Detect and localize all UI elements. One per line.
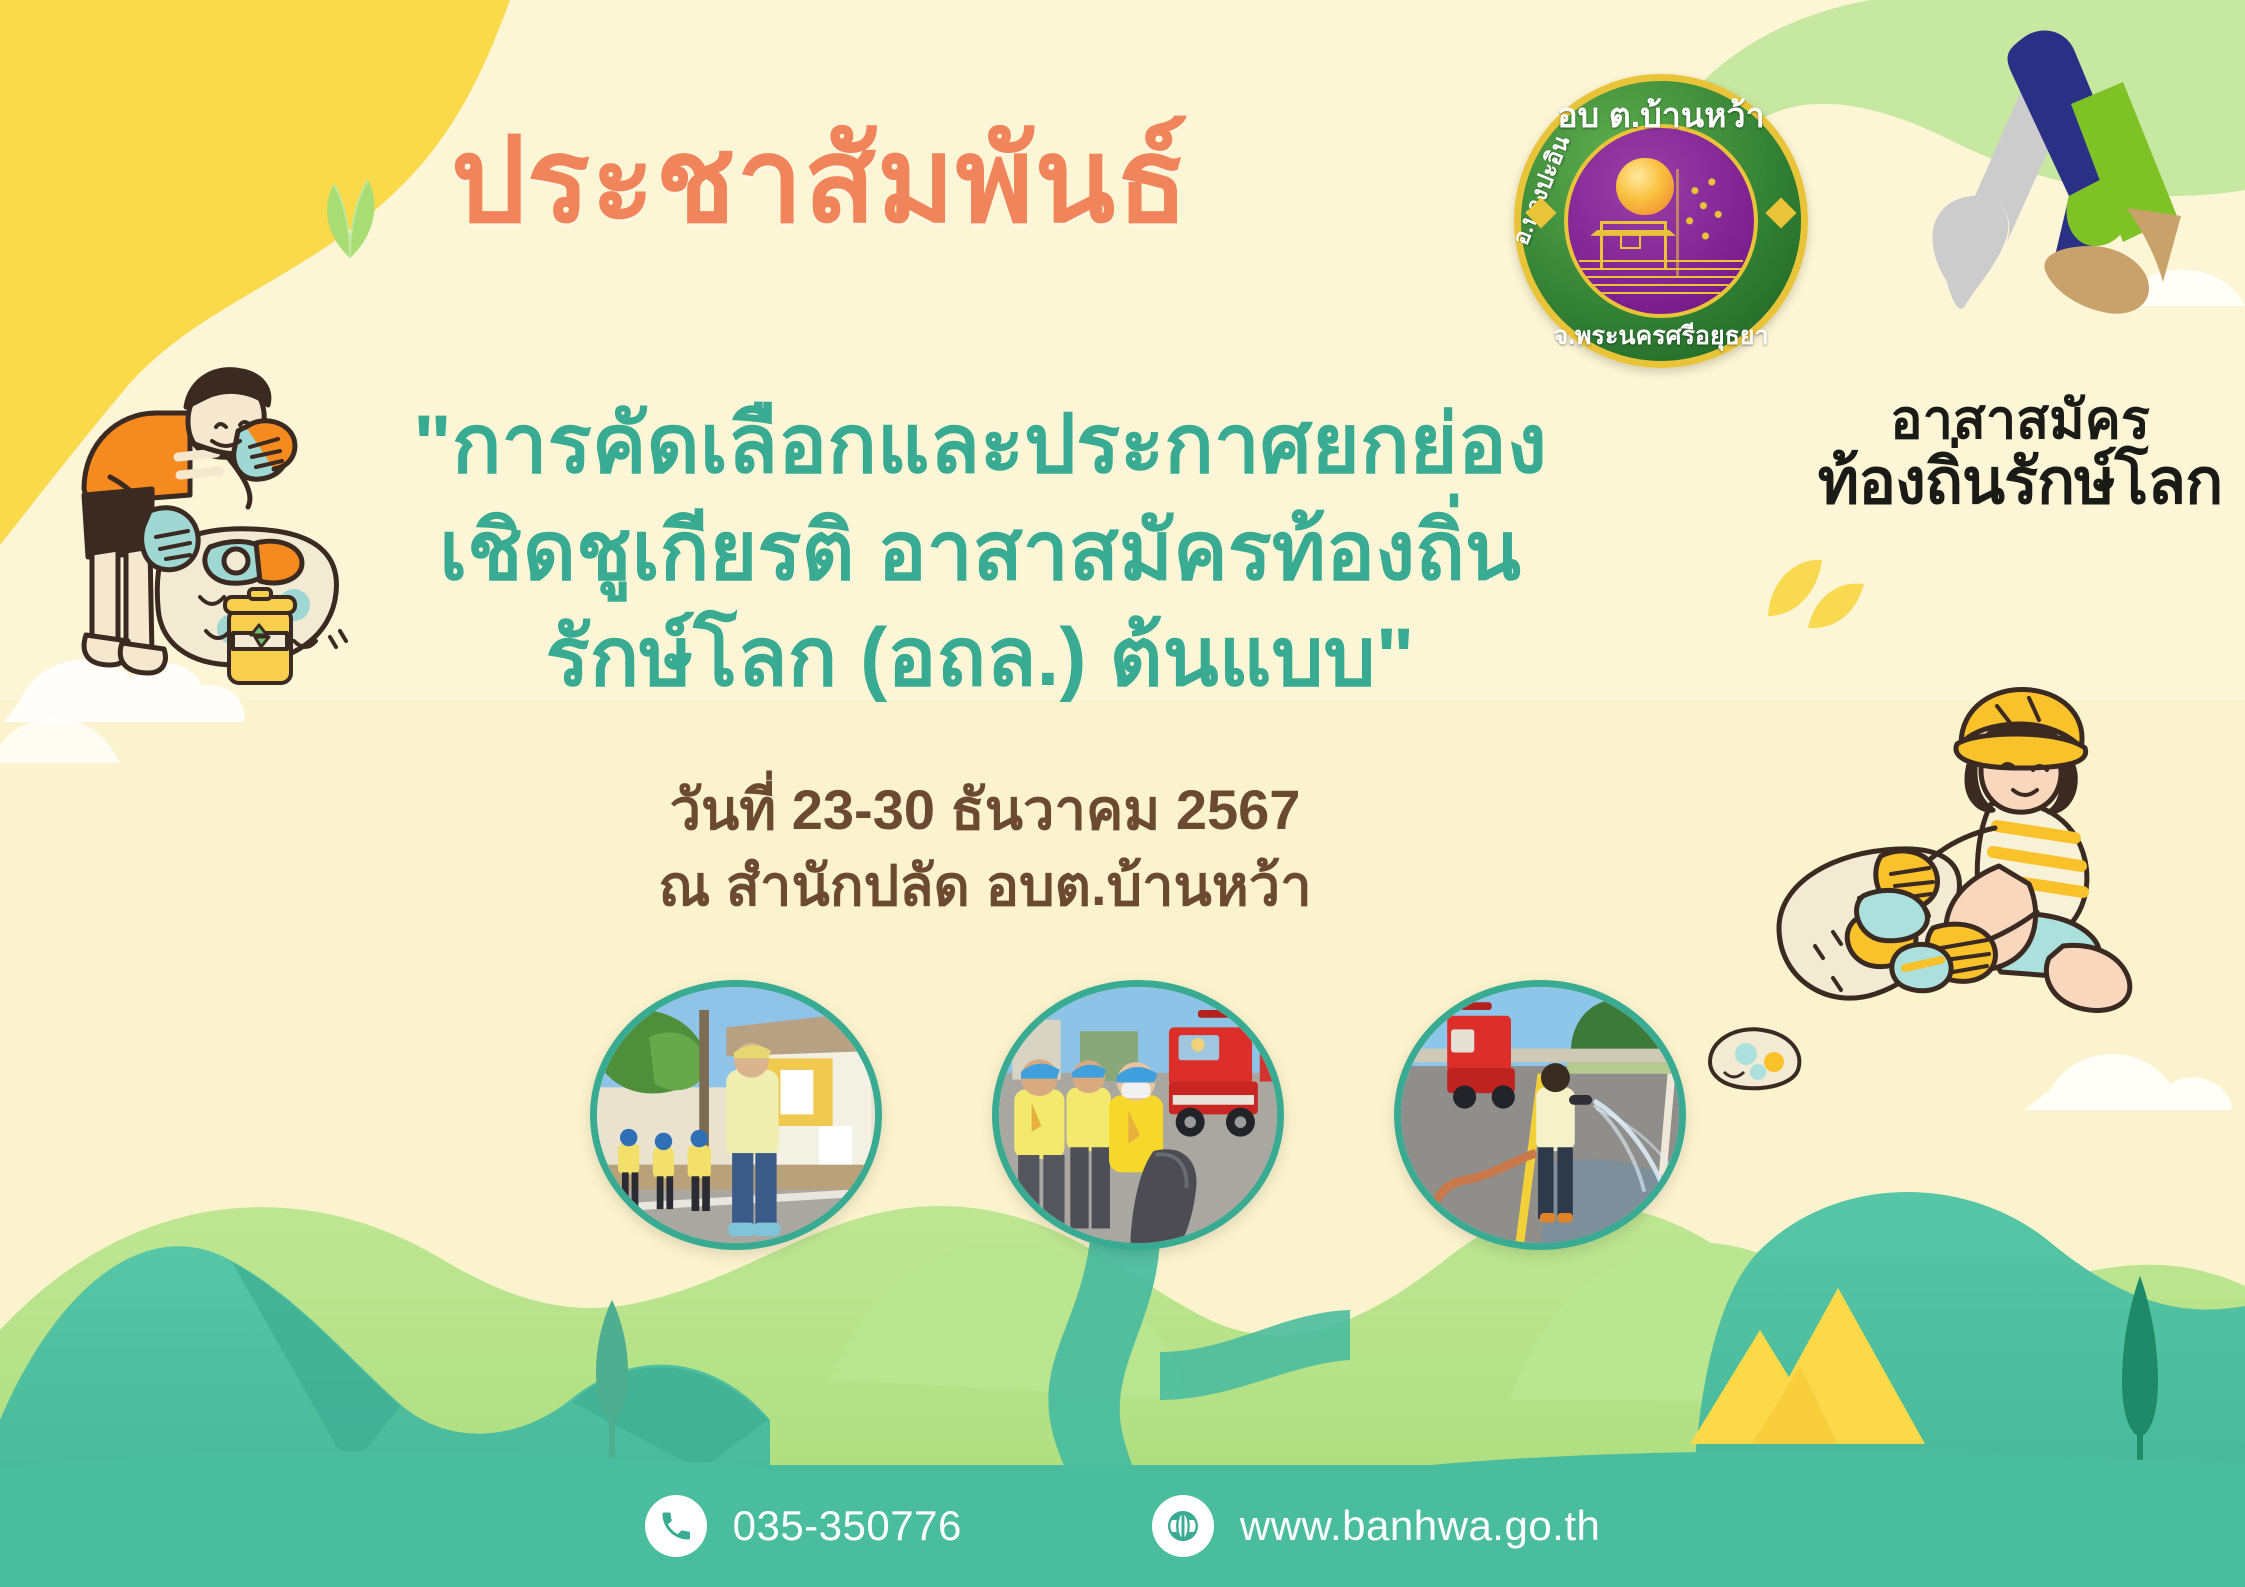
trash-pile-icon [1700, 1010, 1810, 1095]
emblem-diamond-right [1765, 197, 1796, 228]
leaf-pair-icon [1760, 540, 1870, 635]
phone-icon [645, 1495, 707, 1557]
man-picking-trash-illustration [40, 335, 370, 700]
leaf-sprout-icon [300, 150, 400, 260]
emblem-top-text: อบ ต.บ้านหว้า [1557, 88, 1765, 142]
woman-picking-trash-illustration [1745, 660, 2145, 1020]
municipal-emblem: อบ ต.บ้านหว้า อ.บางปะอิน จ.พระนครศรีอยุธ… [1514, 74, 1808, 368]
headline-line-2: เชิดชูเกียรติ อาสาสมัครท้องถิ่น [280, 499, 1680, 606]
globe-icon [1152, 1495, 1214, 1557]
event-date: วันที่ 23-30 ธันวาคม 2567 [380, 772, 1590, 848]
phone-contact[interactable]: 035-350776 [645, 1495, 962, 1557]
program-logo-line2: ท้องถิ่นรักษ์โลก [1790, 449, 2245, 516]
event-place: ณ สำนักปลัด อบต.บ้านหว้า [380, 848, 1590, 924]
photo-2-image [993, 981, 1283, 1250]
page-title: ประชาสัมพันธ์ [0, 120, 1640, 244]
phone-number: 035-350776 [733, 1502, 962, 1550]
photo-1 [590, 980, 882, 1250]
website-url: www.banhwa.go.th [1240, 1502, 1601, 1550]
headline: "การคัดเลือกและประกาศยกย่อง เชิดชูเกียรต… [280, 392, 1680, 712]
headline-line-3: รักษ์โลก (อถล.) ต้นแบบ" [280, 605, 1680, 712]
website-contact[interactable]: www.banhwa.go.th [1152, 1495, 1601, 1557]
photo-3-image [1395, 981, 1685, 1250]
photo-3 [1394, 980, 1686, 1250]
footer-contact-bar: 035-350776 www.banhwa.go.th [0, 1465, 2245, 1587]
photo-2 [992, 980, 1284, 1250]
emblem-left-text: อ.บางปะอิน [1503, 130, 1580, 251]
photo-1-image [591, 981, 881, 1250]
headline-line-1: "การคัดเลือกและประกาศยกย่อง [280, 392, 1680, 499]
poster-root: ประชาสัมพันธ์ อบ ต.บ้านหว้า อ.บางปะอิน จ… [0, 0, 2245, 1587]
program-logo-line1: อาสาสมัคร [1790, 392, 2245, 449]
recycle-bin-icon [215, 585, 305, 695]
header: ประชาสัมพันธ์ [0, 120, 1640, 244]
program-logo [1855, 20, 2215, 320]
photo-gallery [590, 980, 1700, 1250]
event-details: วันที่ 23-30 ธันวาคม 2567 ณ สำนักปลัด อบ… [380, 772, 1590, 923]
emblem-text: อบ ต.บ้านหว้า อ.บางปะอิน จ.พระนครศรีอยุธ… [1514, 74, 1808, 368]
emblem-bottom-text: จ.พระนครศรีอยุธยา [1553, 316, 1768, 356]
program-logo-text: อาสาสมัคร ท้องถิ่นรักษ์โลก [1790, 392, 2245, 516]
